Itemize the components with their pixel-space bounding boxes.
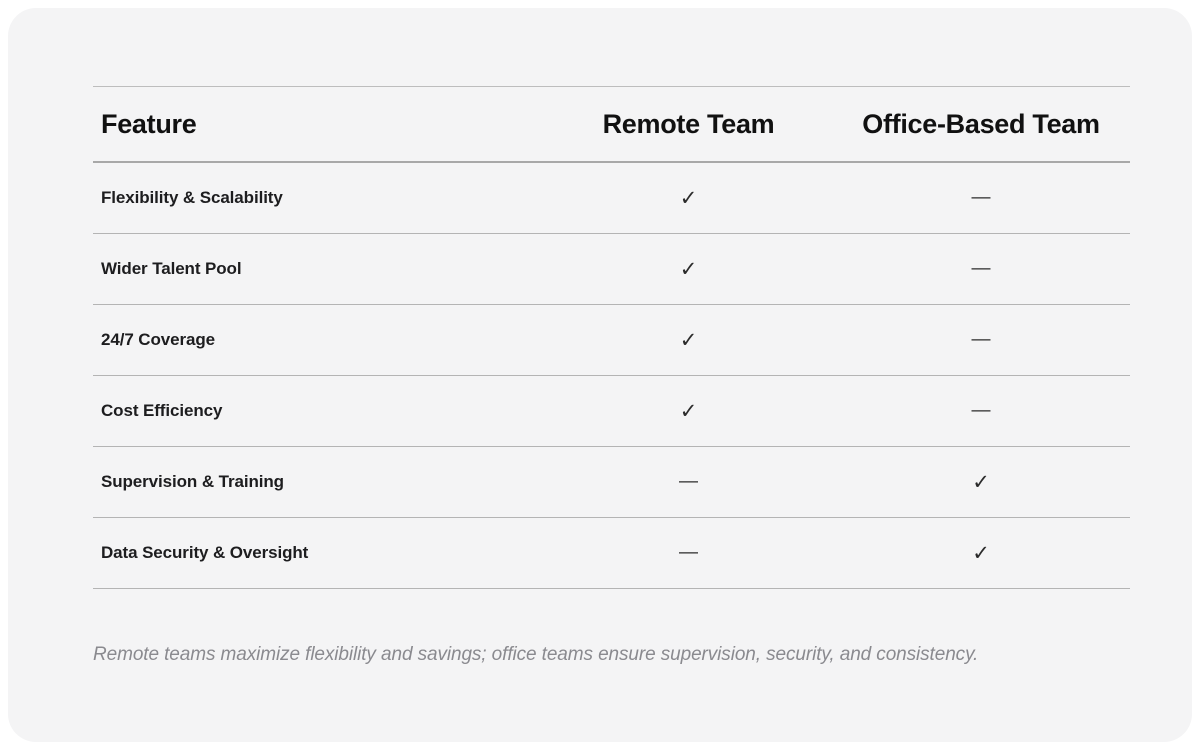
feature-label: 24/7 Coverage — [93, 305, 545, 376]
office-team-cell: — — [832, 162, 1130, 234]
column-header-remote-team: Remote Team — [545, 87, 832, 162]
remote-team-cell: ✓ — [545, 305, 832, 376]
check-icon: ✓ — [972, 472, 990, 493]
dash-icon: — — [679, 472, 698, 491]
remote-team-cell: — — [545, 518, 832, 589]
check-icon: ✓ — [680, 188, 698, 209]
column-header-feature: Feature — [93, 87, 545, 162]
feature-label: Wider Talent Pool — [93, 234, 545, 305]
dash-icon: — — [972, 401, 991, 420]
dash-icon: — — [972, 330, 991, 349]
remote-team-cell: ✓ — [545, 162, 832, 234]
page-root: Feature Remote Team Office-Based Team Fl… — [0, 0, 1200, 750]
table-row: Wider Talent Pool ✓ — — [93, 234, 1130, 305]
footnote-text: Remote teams maximize flexibility and sa… — [93, 640, 1113, 670]
table-row: Flexibility & Scalability ✓ — — [93, 162, 1130, 234]
office-team-cell: ✓ — [832, 518, 1130, 589]
feature-label: Data Security & Oversight — [93, 518, 545, 589]
dash-icon: — — [972, 188, 991, 207]
office-team-cell: — — [832, 234, 1130, 305]
table-header: Feature Remote Team Office-Based Team — [93, 87, 1130, 162]
check-icon: ✓ — [972, 543, 990, 564]
column-header-office-based-team: Office-Based Team — [832, 87, 1130, 162]
office-team-cell: — — [832, 305, 1130, 376]
office-team-cell: ✓ — [832, 447, 1130, 518]
comparison-card: Feature Remote Team Office-Based Team Fl… — [8, 8, 1192, 742]
table-row: Data Security & Oversight — ✓ — [93, 518, 1130, 589]
comparison-table: Feature Remote Team Office-Based Team Fl… — [93, 87, 1130, 589]
check-icon: ✓ — [680, 401, 698, 422]
table-header-row: Feature Remote Team Office-Based Team — [93, 87, 1130, 162]
remote-team-cell: ✓ — [545, 376, 832, 447]
table-row: Supervision & Training — ✓ — [93, 447, 1130, 518]
remote-team-cell: — — [545, 447, 832, 518]
feature-label: Flexibility & Scalability — [93, 162, 545, 234]
table-row: 24/7 Coverage ✓ — — [93, 305, 1130, 376]
table-body: Flexibility & Scalability ✓ — Wider Tale… — [93, 162, 1130, 589]
table-row: Cost Efficiency ✓ — — [93, 376, 1130, 447]
feature-label: Supervision & Training — [93, 447, 545, 518]
dash-icon: — — [972, 259, 991, 278]
comparison-table-container: Feature Remote Team Office-Based Team Fl… — [93, 86, 1130, 589]
check-icon: ✓ — [680, 330, 698, 351]
dash-icon: — — [679, 543, 698, 562]
check-icon: ✓ — [680, 259, 698, 280]
remote-team-cell: ✓ — [545, 234, 832, 305]
office-team-cell: — — [832, 376, 1130, 447]
feature-label: Cost Efficiency — [93, 376, 545, 447]
